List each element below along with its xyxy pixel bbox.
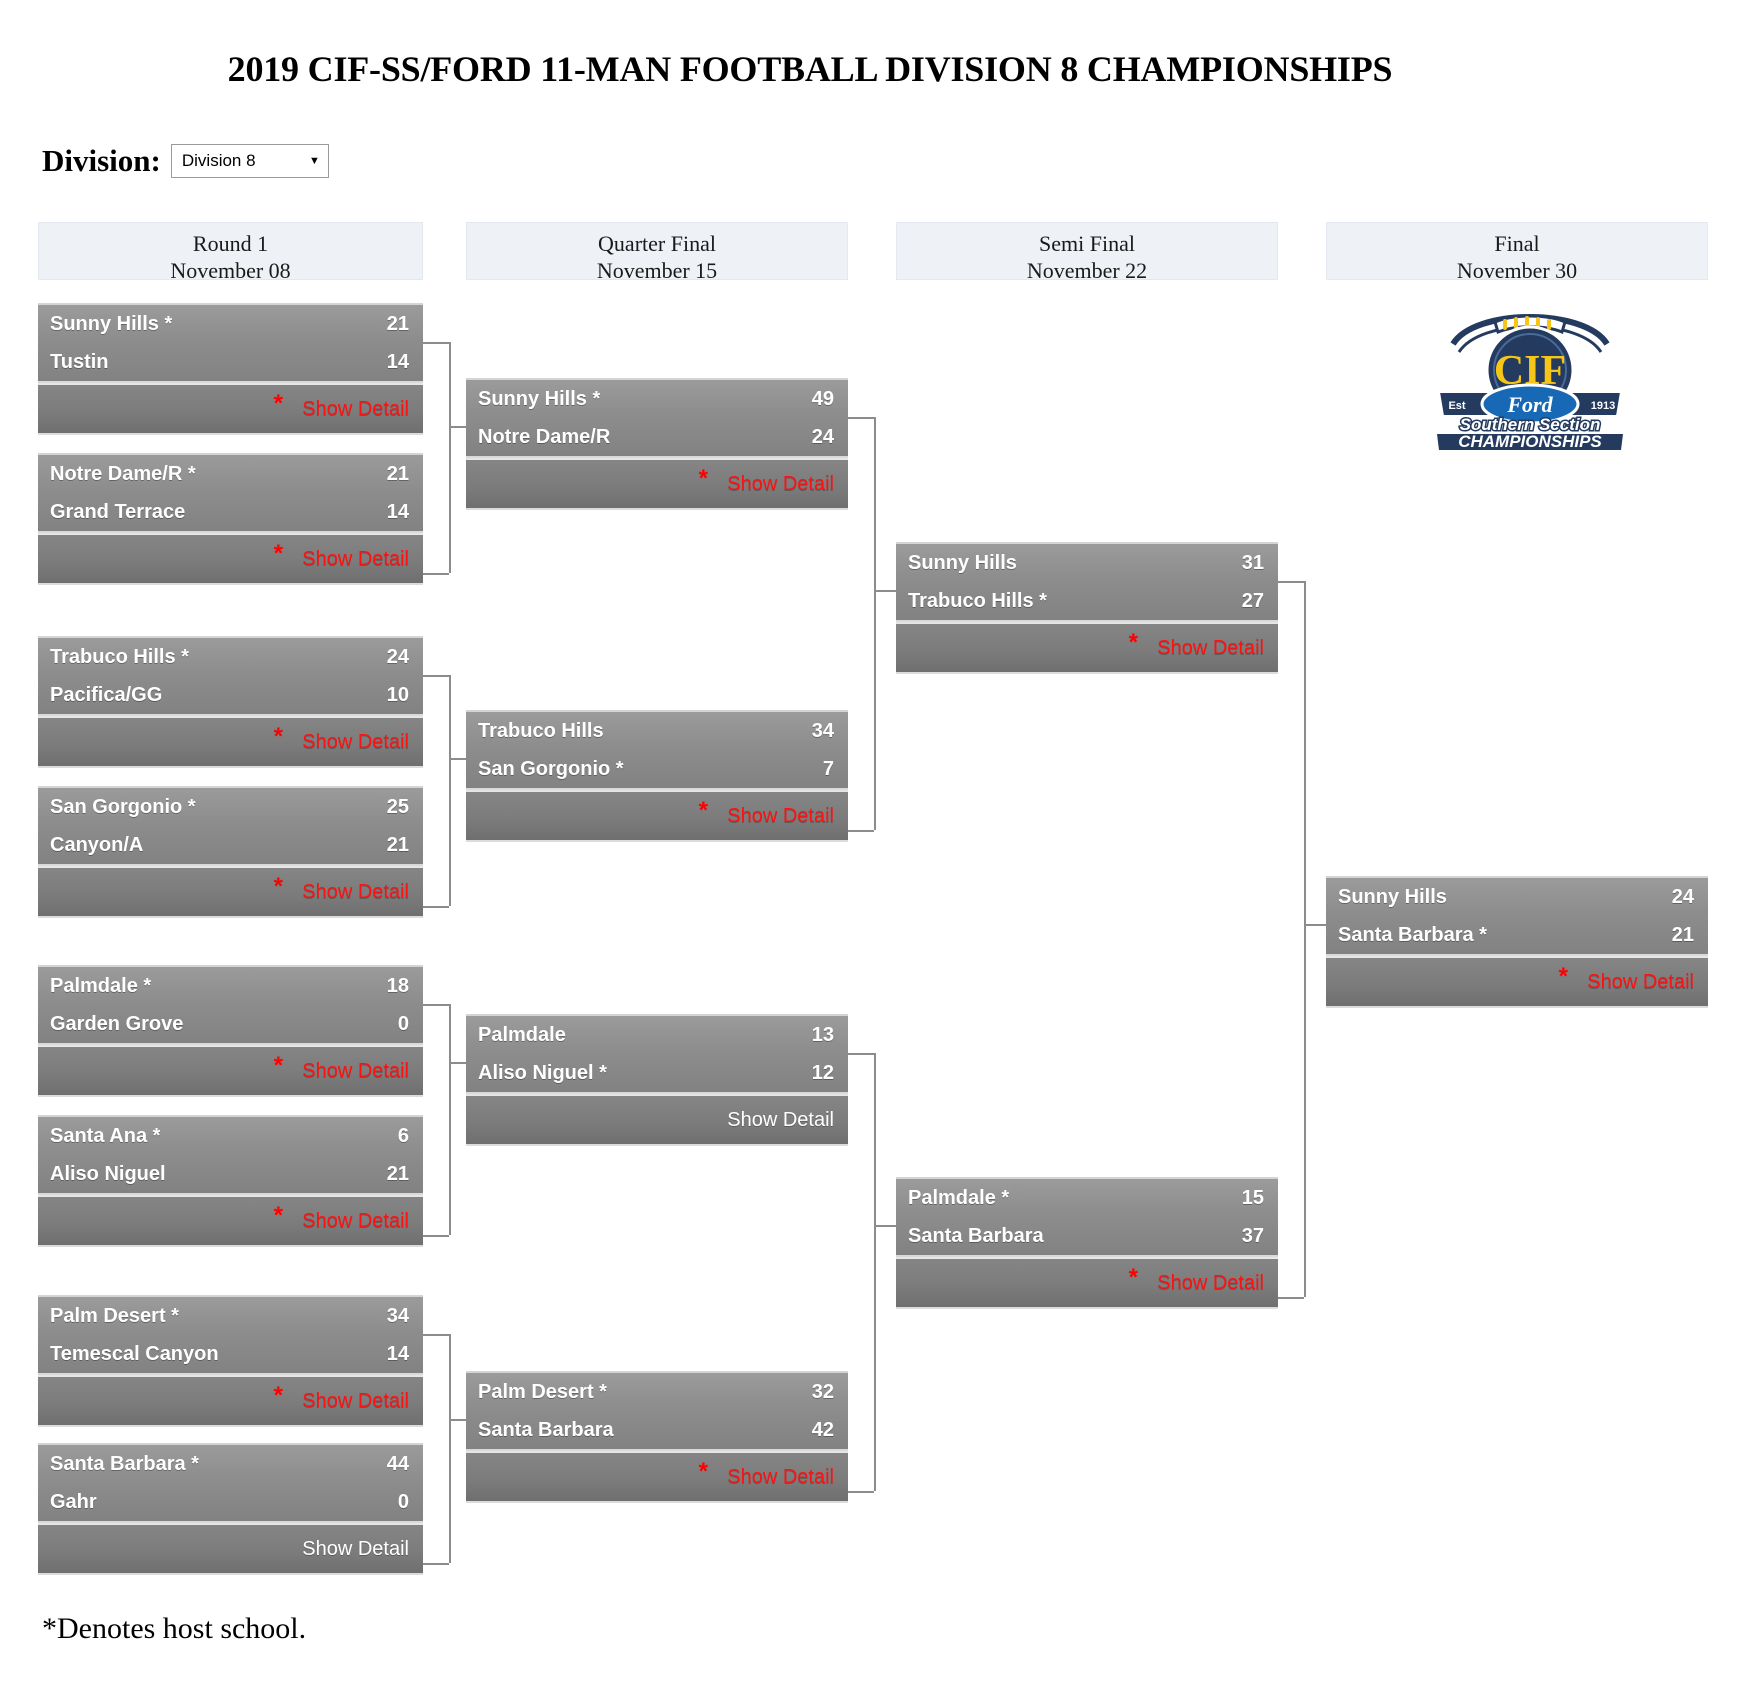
connector-line: [449, 675, 451, 906]
team-block: Notre Dame/R *21Grand Terrace14: [38, 453, 423, 533]
connector-line: [423, 573, 449, 575]
team-block: Sunny Hills24Santa Barbara *21: [1326, 876, 1708, 956]
host-star-icon: *: [1129, 1266, 1138, 1290]
team-row: Trabuco Hills34: [466, 712, 848, 750]
team-score: 44: [387, 1453, 409, 1476]
team-name: Notre Dame/R *: [50, 463, 196, 486]
svg-text:Ford: Ford: [1506, 392, 1553, 417]
host-star-icon: *: [1559, 965, 1568, 989]
team-row: Garden Grove0: [38, 1005, 423, 1043]
show-detail-row[interactable]: *Show Detail: [38, 533, 423, 585]
team-score: 12: [812, 1062, 834, 1085]
team-block: Santa Barbara *44Gahr0: [38, 1443, 423, 1523]
show-detail-row[interactable]: *Show Detail: [38, 1045, 423, 1097]
connector-line: [449, 1062, 466, 1064]
team-row: Santa Barbara37: [896, 1217, 1278, 1255]
round-date: November 15: [467, 258, 847, 285]
connector-line: [848, 1491, 874, 1493]
team-name: Santa Barbara: [478, 1419, 614, 1442]
round-date: November 08: [39, 258, 422, 285]
division-label: Division:: [42, 143, 161, 179]
team-block: San Gorgonio *25Canyon/A21: [38, 786, 423, 866]
round-header-2: Quarter FinalNovember 15: [466, 222, 848, 280]
division-selector-bar: Division: Division 8 ▼: [42, 143, 329, 179]
connector-line: [1304, 581, 1306, 1297]
team-block: Palm Desert *34Temescal Canyon14: [38, 1295, 423, 1375]
host-star-icon: *: [274, 725, 283, 749]
page-title: 2019 CIF-SS/FORD 11-MAN FOOTBALL DIVISIO…: [0, 48, 1620, 90]
team-score: 24: [387, 646, 409, 669]
show-detail-row[interactable]: *Show Detail: [896, 622, 1278, 674]
match-box: Notre Dame/R *21Grand Terrace14*Show Det…: [38, 453, 423, 585]
team-row: Pacifica/GG10: [38, 676, 423, 714]
host-star-icon: *: [699, 1460, 708, 1484]
connector-line: [423, 675, 449, 677]
chevron-down-icon: ▼: [309, 156, 320, 167]
show-detail-link[interactable]: Show Detail: [302, 398, 409, 421]
svg-text:CHAMPIONSHIPS: CHAMPIONSHIPS: [1458, 432, 1602, 451]
team-row: Palmdale *18: [38, 967, 423, 1005]
team-score: 49: [812, 388, 834, 411]
team-score: 21: [387, 834, 409, 857]
show-detail-link[interactable]: Show Detail: [302, 1390, 409, 1413]
match-box: Sunny Hills24Santa Barbara *21*Show Deta…: [1326, 876, 1708, 1008]
show-detail-link[interactable]: Show Detail: [302, 731, 409, 754]
team-row: Notre Dame/R *21: [38, 455, 423, 493]
team-block: Trabuco Hills34San Gorgonio *7: [466, 710, 848, 790]
connector-line: [848, 830, 874, 832]
team-name: Sunny Hills: [1338, 886, 1447, 909]
team-block: Palm Desert *32Santa Barbara42: [466, 1371, 848, 1451]
team-score: 0: [398, 1491, 409, 1514]
team-score: 7: [823, 758, 834, 781]
team-name: Trabuco Hills *: [908, 590, 1047, 613]
connector-line: [423, 342, 449, 344]
show-detail-row[interactable]: *Show Detail: [38, 716, 423, 768]
connector-line: [449, 1419, 466, 1421]
team-row: Sunny Hills *21: [38, 305, 423, 343]
team-score: 34: [812, 720, 834, 743]
team-score: 14: [387, 501, 409, 524]
team-name: Canyon/A: [50, 834, 143, 857]
team-score: 25: [387, 796, 409, 819]
match-box: Santa Ana *6Aliso Niguel21*Show Detail: [38, 1115, 423, 1247]
round-name: Quarter Final: [467, 231, 847, 258]
host-star-icon: *: [274, 542, 283, 566]
team-row: San Gorgonio *7: [466, 750, 848, 788]
team-row: Gahr0: [38, 1483, 423, 1521]
team-block: Palmdale13Aliso Niguel *12: [466, 1014, 848, 1094]
connector-line: [423, 1235, 449, 1237]
team-score: 24: [812, 426, 834, 449]
team-row: Aliso Niguel21: [38, 1155, 423, 1193]
show-detail-link[interactable]: Show Detail: [302, 881, 409, 904]
show-detail-link[interactable]: Show Detail: [302, 1060, 409, 1083]
connector-line: [449, 1334, 451, 1563]
round-date: November 30: [1327, 258, 1707, 285]
connector-line: [874, 590, 896, 592]
team-name: San Gorgonio *: [50, 796, 196, 819]
show-detail-row[interactable]: *Show Detail: [896, 1257, 1278, 1309]
team-score: 14: [387, 351, 409, 374]
team-row: Santa Ana *6: [38, 1117, 423, 1155]
cif-ford-logo: CIF Est 1913 Ford Southern Section CHAMP…: [1435, 292, 1625, 452]
team-row: Aliso Niguel *12: [466, 1054, 848, 1092]
show-detail-link[interactable]: Show Detail: [302, 1538, 409, 1561]
team-name: Pacifica/GG: [50, 684, 162, 707]
team-name: Santa Barbara *: [50, 1453, 199, 1476]
match-box: Trabuco Hills34San Gorgonio *7*Show Deta…: [466, 710, 848, 842]
team-row: Temescal Canyon14: [38, 1335, 423, 1373]
team-name: Palm Desert *: [50, 1305, 179, 1328]
show-detail-link[interactable]: Show Detail: [727, 1466, 834, 1489]
team-name: Palm Desert *: [478, 1381, 607, 1404]
team-score: 6: [398, 1125, 409, 1148]
team-score: 21: [387, 1163, 409, 1186]
team-row: Palm Desert *34: [38, 1297, 423, 1335]
show-detail-row[interactable]: *Show Detail: [38, 1375, 423, 1427]
show-detail-link[interactable]: Show Detail: [302, 1210, 409, 1233]
team-name: Santa Barbara *: [1338, 924, 1487, 947]
team-row: Palmdale13: [466, 1016, 848, 1054]
team-name: Trabuco Hills *: [50, 646, 189, 669]
host-star-icon: *: [274, 1384, 283, 1408]
team-row: San Gorgonio *25: [38, 788, 423, 826]
team-row: Tustin14: [38, 343, 423, 381]
team-name: Palmdale *: [908, 1187, 1009, 1210]
team-score: 14: [387, 1343, 409, 1366]
match-box: Sunny Hills *21Tustin14*Show Detail: [38, 303, 423, 435]
show-detail-row[interactable]: Show Detail: [466, 1094, 848, 1146]
team-score: 31: [1242, 552, 1264, 575]
svg-text:1913: 1913: [1591, 400, 1615, 412]
team-row: Notre Dame/R24: [466, 418, 848, 456]
team-row: Santa Barbara *44: [38, 1445, 423, 1483]
team-score: 32: [812, 1381, 834, 1404]
show-detail-link[interactable]: Show Detail: [1587, 971, 1694, 994]
round-header-4: FinalNovember 30: [1326, 222, 1708, 280]
show-detail-link[interactable]: Show Detail: [1157, 1272, 1264, 1295]
team-block: Palmdale *15Santa Barbara37: [896, 1177, 1278, 1257]
match-box: Palmdale13Aliso Niguel *12Show Detail: [466, 1014, 848, 1146]
match-box: Sunny Hills31Trabuco Hills *27*Show Deta…: [896, 542, 1278, 674]
show-detail-link[interactable]: Show Detail: [727, 1109, 834, 1132]
connector-line: [449, 426, 466, 428]
connector-line: [848, 1053, 874, 1055]
round-name: Final: [1327, 231, 1707, 258]
host-school-footnote: *Denotes host school.: [42, 1612, 306, 1646]
team-score: 10: [387, 684, 409, 707]
round-name: Semi Final: [897, 231, 1277, 258]
division-select-value: Division 8: [182, 151, 256, 171]
round-date: November 22: [897, 258, 1277, 285]
show-detail-row[interactable]: *Show Detail: [38, 1195, 423, 1247]
division-select[interactable]: Division 8 ▼: [171, 144, 329, 178]
connector-line: [874, 1225, 896, 1227]
connector-line: [1278, 581, 1304, 583]
team-block: Trabuco Hills *24Pacifica/GG10: [38, 636, 423, 716]
bracket-page: 2019 CIF-SS/FORD 11-MAN FOOTBALL DIVISIO…: [0, 0, 1743, 1692]
match-box: Trabuco Hills *24Pacifica/GG10*Show Deta…: [38, 636, 423, 768]
team-row: Palm Desert *32: [466, 1373, 848, 1411]
match-box: Palmdale *18Garden Grove0*Show Detail: [38, 965, 423, 1097]
show-detail-row[interactable]: *Show Detail: [466, 1451, 848, 1503]
connector-line: [423, 1004, 449, 1006]
team-score: 27: [1242, 590, 1264, 613]
team-score: 21: [1672, 924, 1694, 947]
show-detail-row[interactable]: *Show Detail: [466, 790, 848, 842]
team-name: Palmdale: [478, 1024, 566, 1047]
match-box: Palmdale *15Santa Barbara37*Show Detail: [896, 1177, 1278, 1309]
team-block: Santa Ana *6Aliso Niguel21: [38, 1115, 423, 1195]
connector-line: [449, 342, 451, 573]
team-block: Sunny Hills *21Tustin14: [38, 303, 423, 383]
connector-line: [449, 1004, 451, 1235]
match-box: Palm Desert *34Temescal Canyon14*Show De…: [38, 1295, 423, 1427]
team-score: 34: [387, 1305, 409, 1328]
host-star-icon: *: [1129, 631, 1138, 655]
connector-line: [1278, 1297, 1304, 1299]
team-name: Santa Ana *: [50, 1125, 160, 1148]
match-box: San Gorgonio *25Canyon/A21*Show Detail: [38, 786, 423, 918]
show-detail-row[interactable]: *Show Detail: [1326, 956, 1708, 1008]
team-name: Temescal Canyon: [50, 1343, 219, 1366]
connector-line: [423, 906, 449, 908]
connector-line: [423, 1334, 449, 1336]
team-row: Trabuco Hills *27: [896, 582, 1278, 620]
team-name: Gahr: [50, 1491, 97, 1514]
team-score: 13: [812, 1024, 834, 1047]
show-detail-link[interactable]: Show Detail: [727, 805, 834, 828]
host-star-icon: *: [274, 875, 283, 899]
team-row: Trabuco Hills *24: [38, 638, 423, 676]
round-header-1: Round 1November 08: [38, 222, 423, 280]
team-row: Santa Barbara42: [466, 1411, 848, 1449]
show-detail-row[interactable]: *Show Detail: [38, 383, 423, 435]
host-star-icon: *: [274, 1204, 283, 1228]
match-box: Santa Barbara *44Gahr0Show Detail: [38, 1443, 423, 1575]
connector-line: [848, 417, 874, 419]
team-block: Sunny Hills31Trabuco Hills *27: [896, 542, 1278, 622]
team-name: Tustin: [50, 351, 109, 374]
connector-line: [874, 1053, 876, 1491]
svg-text:Est: Est: [1448, 400, 1465, 412]
team-name: San Gorgonio *: [478, 758, 624, 781]
team-score: 15: [1242, 1187, 1264, 1210]
round-name: Round 1: [39, 231, 422, 258]
team-name: Grand Terrace: [50, 501, 185, 524]
team-block: Palmdale *18Garden Grove0: [38, 965, 423, 1045]
team-score: 37: [1242, 1225, 1264, 1248]
team-name: Notre Dame/R: [478, 426, 610, 449]
team-name: Trabuco Hills: [478, 720, 604, 743]
team-score: 18: [387, 975, 409, 998]
connector-line: [874, 417, 876, 830]
show-detail-link[interactable]: Show Detail: [727, 473, 834, 496]
team-row: Sunny Hills31: [896, 544, 1278, 582]
match-box: Palm Desert *32Santa Barbara42*Show Deta…: [466, 1371, 848, 1503]
connector-line: [423, 1563, 449, 1565]
show-detail-row[interactable]: *Show Detail: [38, 866, 423, 918]
team-name: Santa Barbara: [908, 1225, 1044, 1248]
connector-line: [1304, 924, 1326, 926]
team-score: 42: [812, 1419, 834, 1442]
show-detail-link[interactable]: Show Detail: [1157, 637, 1264, 660]
team-name: Palmdale *: [50, 975, 151, 998]
team-row: Sunny Hills *49: [466, 380, 848, 418]
show-detail-link[interactable]: Show Detail: [302, 548, 409, 571]
show-detail-row[interactable]: *Show Detail: [466, 458, 848, 510]
team-name: Sunny Hills *: [50, 313, 172, 336]
team-name: Aliso Niguel *: [478, 1062, 607, 1085]
team-score: 0: [398, 1013, 409, 1036]
team-block: Sunny Hills *49Notre Dame/R24: [466, 378, 848, 458]
round-header-3: Semi FinalNovember 22: [896, 222, 1278, 280]
team-row: Sunny Hills24: [1326, 878, 1708, 916]
team-name: Aliso Niguel: [50, 1163, 166, 1186]
show-detail-row[interactable]: Show Detail: [38, 1523, 423, 1575]
host-star-icon: *: [274, 392, 283, 416]
team-name: Garden Grove: [50, 1013, 183, 1036]
host-star-icon: *: [699, 799, 708, 823]
team-name: Sunny Hills *: [478, 388, 600, 411]
team-score: 21: [387, 313, 409, 336]
team-score: 21: [387, 463, 409, 486]
team-row: Canyon/A21: [38, 826, 423, 864]
team-row: Santa Barbara *21: [1326, 916, 1708, 954]
host-star-icon: *: [274, 1054, 283, 1078]
team-score: 24: [1672, 886, 1694, 909]
team-row: Palmdale *15: [896, 1179, 1278, 1217]
host-star-icon: *: [699, 467, 708, 491]
cif-logo-svg: CIF Est 1913 Ford Southern Section CHAMP…: [1435, 292, 1625, 452]
team-name: Sunny Hills: [908, 552, 1017, 575]
team-row: Grand Terrace14: [38, 493, 423, 531]
connector-line: [449, 758, 466, 760]
match-box: Sunny Hills *49Notre Dame/R24*Show Detai…: [466, 378, 848, 510]
